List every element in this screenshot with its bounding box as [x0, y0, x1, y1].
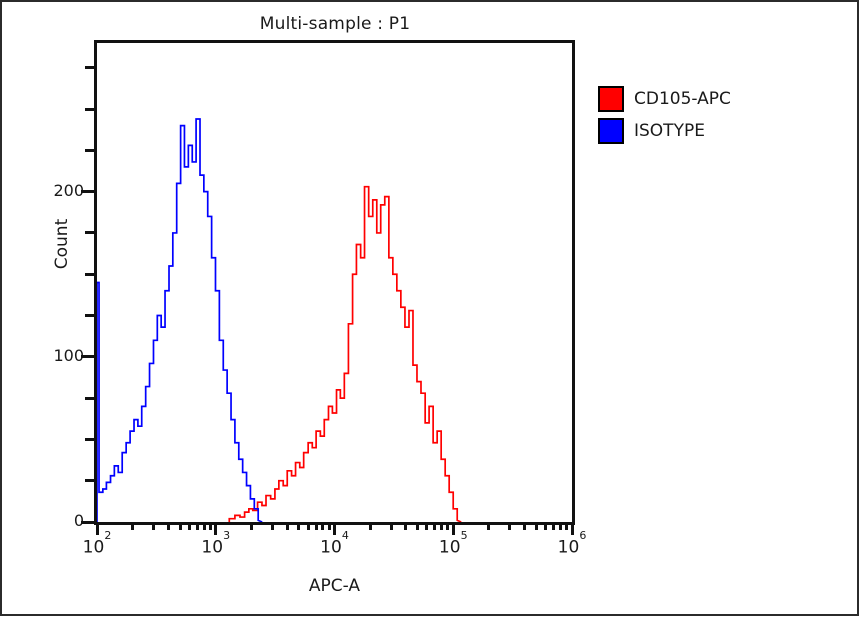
legend-swatch-cd105-apc [598, 86, 624, 112]
x-minor-tick [188, 522, 191, 530]
x-minor-tick [508, 522, 511, 530]
y-minor-tick [85, 314, 94, 317]
x-minor-tick [416, 522, 419, 530]
legend-item-isotype[interactable]: ISOTYPE [598, 118, 731, 144]
x-major-tick [333, 522, 336, 535]
legend-label-cd105-apc: CD105-APC [634, 89, 731, 109]
x-tick-label: 104 [320, 536, 349, 558]
x-minor-tick [179, 522, 182, 530]
x-minor-tick [552, 522, 555, 530]
y-major-tick [81, 355, 94, 358]
legend-item-cd105-apc[interactable]: CD105-APC [598, 86, 731, 112]
trace-isotype [97, 119, 262, 522]
y-minor-tick [85, 66, 94, 69]
x-minor-tick [433, 522, 436, 530]
x-minor-tick [203, 522, 206, 530]
plot-area [94, 40, 575, 525]
x-minor-tick [286, 522, 289, 530]
x-minor-tick [535, 522, 538, 530]
x-tick-label: 106 [558, 536, 587, 558]
x-minor-tick [152, 522, 155, 530]
x-minor-tick [559, 522, 562, 530]
y-minor-tick [85, 438, 94, 441]
legend-swatch-isotype [598, 118, 624, 144]
x-minor-tick [565, 522, 568, 530]
y-minor-tick [85, 273, 94, 276]
x-minor-tick [390, 522, 393, 530]
x-minor-tick [446, 522, 449, 530]
x-minor-tick [196, 522, 199, 530]
x-tick-label: 105 [439, 536, 468, 558]
y-minor-tick [85, 108, 94, 111]
y-minor-tick [85, 149, 94, 152]
x-minor-tick [487, 522, 490, 530]
histogram-traces [97, 43, 572, 522]
x-minor-tick [131, 522, 134, 530]
x-minor-tick [404, 522, 407, 530]
x-minor-tick [307, 522, 310, 530]
x-minor-tick [328, 522, 331, 530]
y-major-tick [81, 190, 94, 193]
x-minor-tick [523, 522, 526, 530]
x-minor-tick [209, 522, 212, 530]
legend: CD105-APC ISOTYPE [598, 86, 731, 144]
x-minor-tick [440, 522, 443, 530]
x-minor-tick [297, 522, 300, 530]
x-minor-tick [544, 522, 547, 530]
x-major-tick [452, 522, 455, 535]
x-minor-tick [321, 522, 324, 530]
x-minor-tick [250, 522, 253, 530]
x-minor-tick [271, 522, 274, 530]
x-major-tick [96, 522, 99, 535]
flow-cytometry-histogram: Multi-sample : P1 Count APC-A 0100200 10… [0, 0, 859, 616]
x-major-tick [571, 522, 574, 535]
y-minor-tick [85, 479, 94, 482]
x-tick-label: 103 [201, 536, 230, 558]
y-minor-tick [85, 397, 94, 400]
x-minor-tick [425, 522, 428, 530]
trace-cd105-apc [229, 187, 461, 522]
x-minor-tick [315, 522, 318, 530]
x-minor-tick [167, 522, 170, 530]
legend-label-isotype: ISOTYPE [634, 121, 705, 141]
x-major-tick [214, 522, 217, 535]
x-tick-label: 102 [83, 536, 112, 558]
y-minor-tick [85, 231, 94, 234]
y-major-tick [81, 521, 94, 524]
x-minor-tick [369, 522, 372, 530]
